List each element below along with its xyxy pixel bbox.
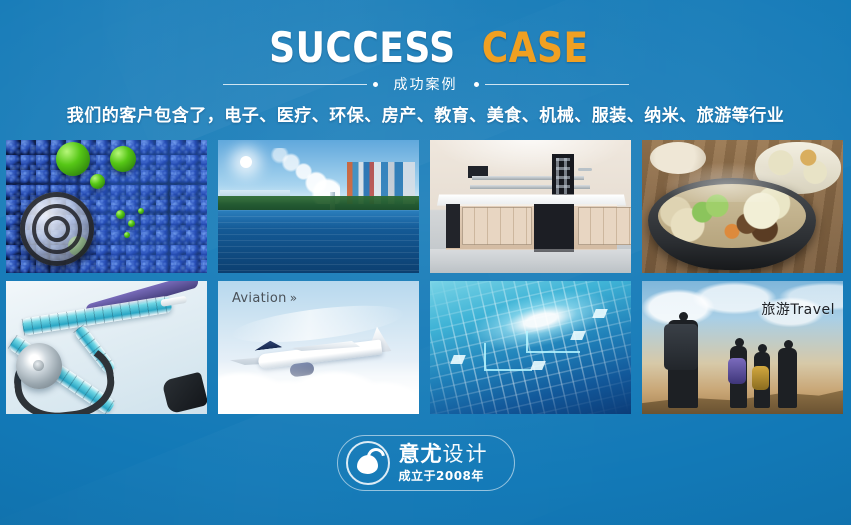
travel-image	[642, 281, 843, 414]
gallery-tile-aviation[interactable]: Aviation»	[218, 281, 419, 414]
logo-name: 意尤设计	[399, 444, 489, 465]
ceiling-light	[430, 140, 631, 190]
lab-faucet	[578, 168, 592, 171]
water-surface	[218, 210, 419, 273]
floor-reflection	[430, 249, 631, 273]
title-main-text: SUCCESS	[269, 24, 455, 72]
logo-since: 成立于2008年	[399, 470, 489, 482]
subtitle-chinese: 成功案例	[378, 74, 474, 94]
green-sphere	[90, 174, 105, 189]
green-sphere	[138, 208, 144, 214]
aviation-image	[218, 281, 419, 414]
green-sphere	[56, 142, 90, 176]
divider-right	[474, 79, 629, 89]
food-image	[642, 140, 843, 273]
gallery-tile-environment[interactable]	[218, 140, 419, 273]
steam	[662, 162, 792, 202]
cabinet-doors	[462, 207, 532, 245]
cabinet-doors	[578, 207, 631, 245]
backpack	[752, 366, 769, 390]
green-sphere	[128, 220, 135, 227]
environment-image	[218, 140, 419, 273]
cabinet-center-panel	[534, 204, 574, 252]
divider-left	[223, 79, 378, 89]
drop-bird-icon	[346, 441, 390, 485]
gallery-tile-travel[interactable]: 旅游Travel	[642, 281, 843, 414]
backpack	[728, 358, 746, 384]
stethoscope-earpiece	[161, 372, 207, 414]
backpack	[664, 324, 698, 370]
cabinet-end-panel	[446, 204, 460, 248]
stethoscope-chestpiece	[16, 343, 62, 389]
title-accent-text: CASE	[481, 24, 588, 72]
company-logo[interactable]: 意尤设计 成立于2008年	[337, 435, 515, 491]
tagline-text: 我们的客户包含了，电子、医疗、环保、房产、教育、美食、机械、服装、纳米、旅游等行…	[0, 101, 851, 126]
control-panel	[552, 154, 574, 198]
subtitle-row: 成功案例	[0, 72, 851, 96]
electronics-image	[430, 281, 631, 414]
success-case-banner: SUCCESSCASE 成功案例 我们的客户包含了，电子、医疗、环保、房产、教育…	[0, 0, 851, 525]
medical-image	[6, 281, 207, 414]
page-title: SUCCESSCASE	[0, 24, 851, 72]
logo-text-block: 意尤设计 成立于2008年	[399, 444, 489, 482]
green-sphere	[116, 210, 125, 219]
gallery-tile-nanotech[interactable]	[6, 140, 207, 273]
logo-name-light: 设计	[443, 442, 489, 466]
circuit-trace	[484, 343, 532, 371]
fullerene-molecule	[20, 192, 94, 266]
tree-line	[218, 196, 419, 210]
laboratory-image	[430, 140, 631, 273]
green-sphere	[124, 232, 130, 238]
nanotech-image	[6, 140, 207, 273]
gallery-tile-laboratory[interactable]	[430, 140, 631, 273]
green-sphere	[110, 146, 136, 172]
sun	[240, 156, 252, 168]
gallery-tile-medical[interactable]	[6, 281, 207, 414]
cloud-bank	[218, 360, 419, 414]
gallery-tile-food[interactable]	[642, 140, 843, 273]
logo-name-strong: 意尤	[399, 442, 443, 466]
banner-header: SUCCESSCASE 成功案例 我们的客户包含了，电子、医疗、环保、房产、教育…	[0, 0, 851, 135]
divider-dot	[474, 82, 479, 87]
gallery-tile-electronics[interactable]	[430, 281, 631, 414]
divider-line	[223, 84, 367, 85]
case-gallery-grid: Aviation»	[6, 140, 845, 414]
divider-line	[485, 84, 629, 85]
hiker-figure	[778, 348, 797, 408]
divider-dot	[373, 82, 378, 87]
